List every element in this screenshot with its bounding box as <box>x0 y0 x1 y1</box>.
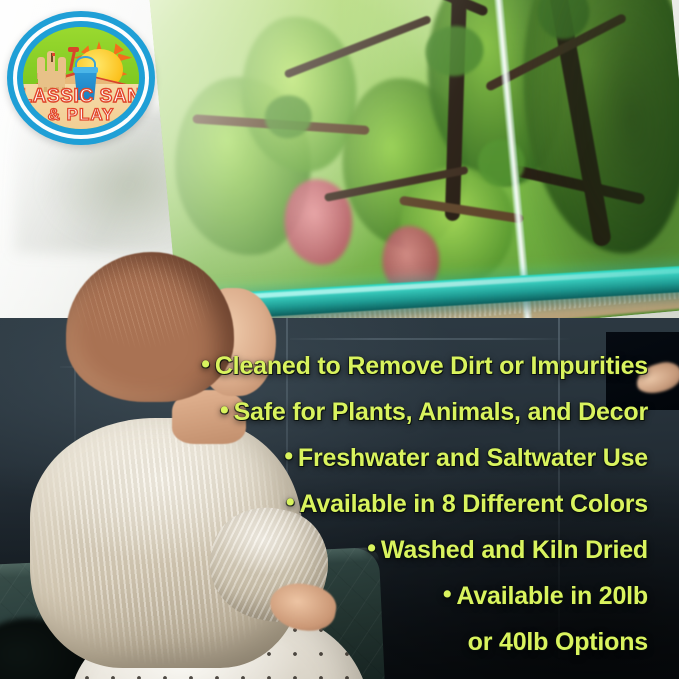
bucket-rim <box>73 67 99 73</box>
feature-bullet-list: •Cleaned to Remove Dirt or Impurities •S… <box>0 352 679 657</box>
feature-bullet-item: •Safe for Plants, Animals, and Decor <box>0 398 648 427</box>
logo-artwork: CLASSIC SAND & PLAY <box>23 27 139 129</box>
feature-bullet-item: •Freshwater and Saltwater Use <box>0 444 648 473</box>
bullet-glyph: • <box>443 582 452 607</box>
feature-bullet-text: Safe for Plants, Animals, and Decor <box>234 398 648 426</box>
feature-bullet-text: Freshwater and Saltwater Use <box>298 444 648 472</box>
brand-logo-badge: CLASSIC SAND & PLAY <box>7 11 155 145</box>
feature-bullet-text: Cleaned to Remove Dirt or Impurities <box>215 352 648 380</box>
bullet-glyph: • <box>367 536 376 561</box>
castle-flag <box>52 53 55 56</box>
bullet-glyph: • <box>220 398 229 423</box>
shovel-handle <box>68 47 78 52</box>
feature-bullet-text: Available in 20lb <box>456 582 648 610</box>
feature-bullet-text: or 40lb Options <box>468 628 648 656</box>
feature-bullet-item: •Available in 8 Different Colors <box>0 490 648 519</box>
feature-bullet-text: Available in 8 Different Colors <box>299 490 648 518</box>
feature-bullet-item: •Cleaned to Remove Dirt or Impurities <box>0 352 648 381</box>
feature-bullet-item-continuation: or 40lb Options <box>0 628 648 657</box>
bullet-glyph: • <box>286 490 295 515</box>
feature-bullet-item: •Washed and Kiln Dried <box>0 536 648 565</box>
product-feature-image: CLASSIC SAND & PLAY •Cleaned to Remove D… <box>0 0 679 679</box>
logo-text-line2: & PLAY <box>48 105 115 125</box>
bullet-glyph: • <box>201 352 210 377</box>
feature-bullet-item: •Available in 20lb <box>0 582 648 611</box>
bullet-glyph: • <box>284 444 293 469</box>
feature-bullet-text: Washed and Kiln Dried <box>381 536 648 564</box>
